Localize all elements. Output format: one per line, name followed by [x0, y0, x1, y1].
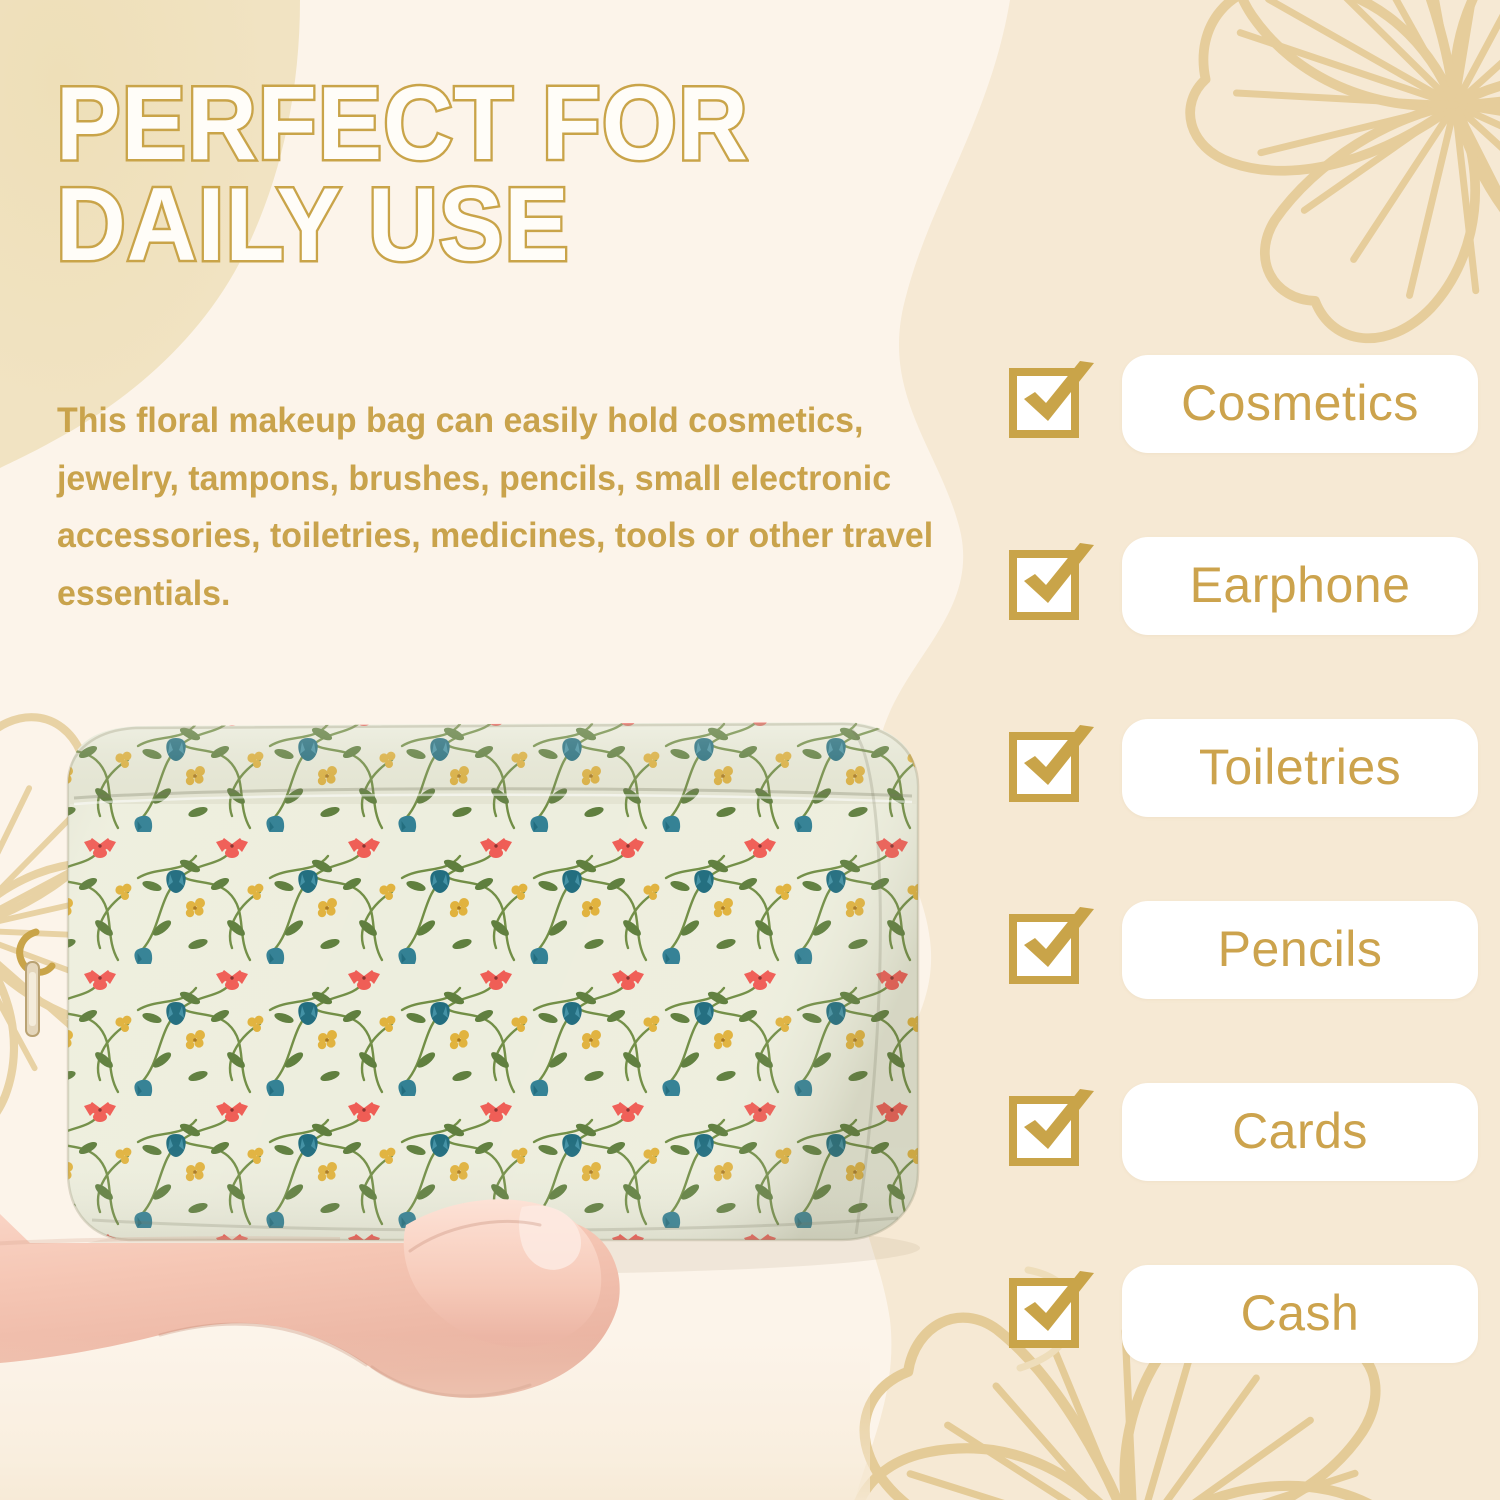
list-item[interactable]: Pencils [1008, 891, 1478, 1009]
checkbox-checked-icon[interactable] [1008, 359, 1100, 445]
list-item-label: Pencils [1218, 924, 1383, 977]
page-title: PERFECT FOR DAILY USE [56, 74, 967, 276]
list-item-pill[interactable]: Cosmetics [1122, 355, 1478, 453]
list-item[interactable]: Toiletries [1008, 709, 1478, 827]
list-item-pill[interactable]: Earphone [1122, 537, 1478, 635]
list-item-label: Cosmetics [1181, 378, 1419, 431]
list-item-pill[interactable]: Toiletries [1122, 719, 1478, 817]
checkbox-checked-icon[interactable] [1008, 541, 1100, 627]
list-item[interactable]: Cash [1008, 1255, 1478, 1373]
checkbox-checked-icon[interactable] [1008, 723, 1100, 809]
list-item-label: Cash [1241, 1288, 1360, 1341]
infographic-canvas: PERFECT FOR DAILY USE This floral makeup… [0, 0, 1500, 1500]
checkbox-checked-icon[interactable] [1008, 905, 1100, 991]
checkbox-checked-icon[interactable] [1008, 1269, 1100, 1355]
list-item[interactable]: Cards [1008, 1073, 1478, 1191]
list-item-pill[interactable]: Cards [1122, 1083, 1478, 1181]
list-item-pill[interactable]: Cash [1122, 1265, 1478, 1363]
checkbox-checked-icon[interactable] [1008, 1087, 1100, 1173]
list-item-label: Cards [1232, 1106, 1368, 1159]
product-description: This floral makeup bag can easily hold c… [57, 392, 955, 622]
list-item-pill[interactable]: Pencils [1122, 901, 1478, 999]
list-item-label: Toiletries [1199, 742, 1401, 795]
list-item[interactable]: Cosmetics [1008, 345, 1478, 463]
list-item-label: Earphone [1190, 560, 1411, 613]
use-case-checklist: Cosmetics Earphone Toiletr [1008, 345, 1478, 1373]
zipper-pull-icon [20, 932, 52, 1036]
hand-holding-product [10, 1185, 810, 1500]
list-item[interactable]: Earphone [1008, 527, 1478, 645]
